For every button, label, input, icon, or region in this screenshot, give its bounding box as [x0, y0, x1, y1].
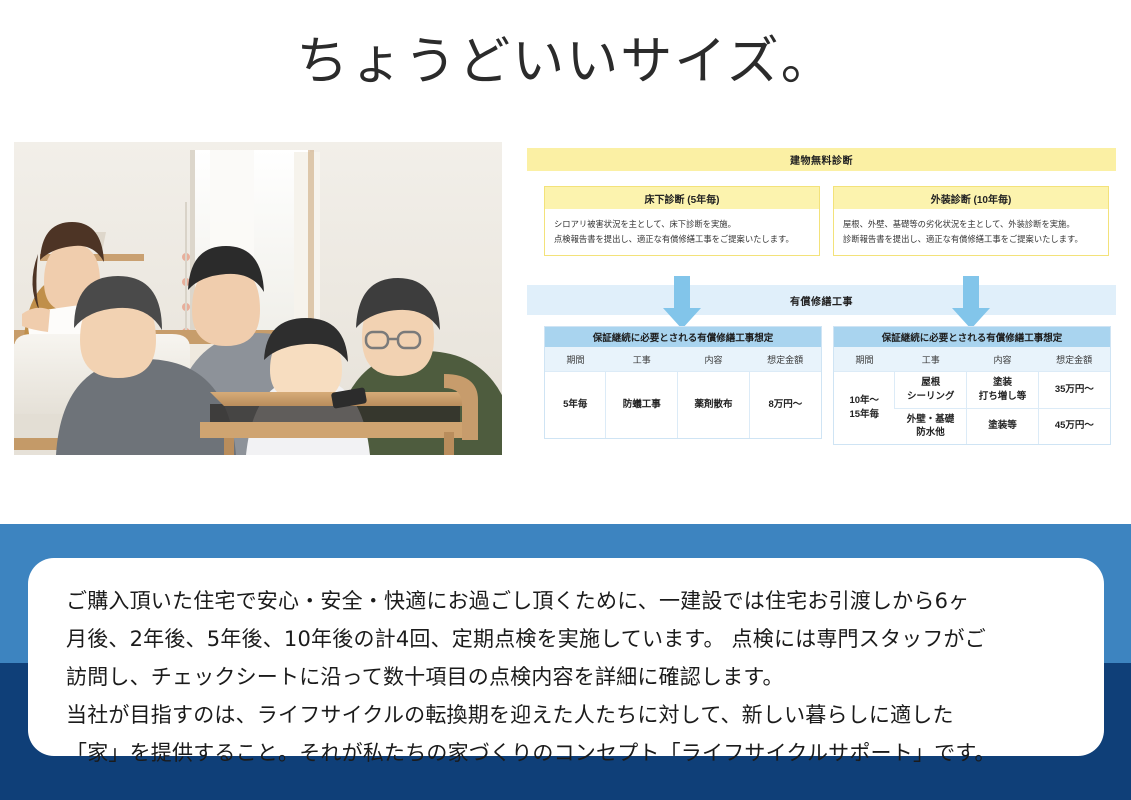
cell-content-line-2: 打ち増し等 [969, 390, 1036, 404]
col-work: 工事 [606, 347, 678, 372]
table-header-row: 期間 工事 内容 想定金額 [834, 347, 1110, 372]
repair-table-underfloor-heading: 保証継続に必要とされる有償修繕工事想定 [545, 327, 821, 347]
exterior-line-2: 診断報告書を提出し、適正な有償修繕工事をご提案いたします。 [843, 232, 1099, 247]
cell-period-line-1: 10年～ [836, 394, 892, 408]
cell-period: 5年毎 [545, 372, 606, 439]
description-text: ご購入頂いた住宅で安心・安全・快適にお過ごし頂くために、一建設では住宅お引渡しか… [66, 582, 1070, 772]
down-arrow-icon-right [948, 276, 994, 329]
col-content: 内容 [967, 347, 1039, 372]
repair-table-underfloor: 保証継続に必要とされる有償修繕工事想定 期間 工事 内容 想定金額 5年毎 防蟻… [544, 326, 822, 439]
inspection-box-exterior-body: 屋根、外壁、基礎等の劣化状況を主として、外装診断を実施。 診断報告書を提出し、適… [834, 209, 1108, 255]
cell-amount: 8万円～ [749, 372, 821, 439]
inspection-box-underfloor: 床下診断 (5年毎) シロアリ被害状況を主として、床下診断を実施。 点検報告書を… [544, 186, 820, 256]
description-line-5: 「家」を提供すること。それが私たちの家づくりのコンセプト「ライフサイクルサポート… [66, 734, 1070, 772]
cell-content-line-1: 塗装 [969, 376, 1036, 390]
col-amount: 想定金額 [1038, 347, 1110, 372]
family-living-room-photo [14, 142, 502, 455]
repair-table-exterior-grid: 期間 工事 内容 想定金額 10年～ 15年毎 屋根 シーリング [834, 347, 1110, 444]
repair-table-underfloor-grid: 期間 工事 内容 想定金額 5年毎 防蟻工事 薬剤散布 8万円～ [545, 347, 821, 438]
cell-amount: 35万円～ [1038, 372, 1110, 409]
inspection-box-exterior: 外装診断 (10年毎) 屋根、外壁、基礎等の劣化状況を主として、外装診断を実施。… [833, 186, 1109, 256]
maintenance-diagram: 建物無料診断 床下診断 (5年毎) シロアリ被害状況を主として、床下診断を実施。… [527, 148, 1116, 460]
cell-content: 塗装 打ち増し等 [967, 372, 1039, 409]
col-content: 内容 [678, 347, 750, 372]
cell-period: 10年～ 15年毎 [834, 372, 895, 445]
cell-work-line-1: 外壁・基礎 [897, 413, 964, 427]
down-arrow-icon-left [659, 276, 705, 329]
diagram-column-exterior: 外装診断 (10年毎) 屋根、外壁、基礎等の劣化状況を主として、外装診断を実施。… [833, 186, 1109, 256]
description-line-3: 訪問し、チェックシートに沿って数十項目の点検内容を詳細に確認します。 [66, 658, 1070, 696]
col-period: 期間 [545, 347, 606, 372]
cell-amount: 45万円～ [1038, 408, 1110, 444]
underfloor-line-1: シロアリ被害状況を主として、床下診断を実施。 [554, 217, 810, 232]
col-work: 工事 [895, 347, 967, 372]
cell-work-line-2: 防水他 [897, 426, 964, 440]
repair-table-exterior-heading: 保証継続に必要とされる有償修繕工事想定 [834, 327, 1110, 347]
cell-work: 屋根 シーリング [895, 372, 967, 409]
description-line-2: 月後、2年後、5年後、10年後の計4回、定期点検を実施しています。 点検には専門… [66, 620, 1070, 658]
cell-period-line-2: 15年毎 [836, 408, 892, 422]
col-amount: 想定金額 [749, 347, 821, 372]
underfloor-line-2: 点検報告書を提出し、適正な有償修繕工事をご提案いたします。 [554, 232, 810, 247]
cell-work: 防蟻工事 [606, 372, 678, 439]
table-header-row: 期間 工事 内容 想定金額 [545, 347, 821, 372]
photo-illustration [14, 142, 502, 455]
cell-work-line-1: 屋根 [897, 376, 964, 390]
cell-content: 塗装等 [967, 408, 1039, 444]
description-line-1: ご購入頂いた住宅で安心・安全・快適にお過ごし頂くために、一建設では住宅お引渡しか… [66, 582, 1070, 620]
cell-work-line-2: シーリング [897, 390, 964, 404]
inspection-box-underfloor-body: シロアリ被害状況を主として、床下診断を実施。 点検報告書を提出し、適正な有償修繕… [545, 209, 819, 255]
diagram-band-paid-repair: 有償修繕工事 [527, 285, 1116, 315]
exterior-line-1: 屋根、外壁、基礎等の劣化状況を主として、外装診断を実施。 [843, 217, 1099, 232]
inspection-box-underfloor-heading: 床下診断 (5年毎) [545, 187, 819, 209]
repair-table-exterior: 保証継続に必要とされる有償修繕工事想定 期間 工事 内容 想定金額 10年～ 1… [833, 326, 1111, 445]
cell-content: 薬剤散布 [678, 372, 750, 439]
col-period: 期間 [834, 347, 895, 372]
description-card: ご購入頂いた住宅で安心・安全・快適にお過ごし頂くために、一建設では住宅お引渡しか… [28, 558, 1104, 756]
cell-work: 外壁・基礎 防水他 [895, 408, 967, 444]
description-line-4: 当社が目指すのは、ライフサイクルの転換期を迎えた人たちに対して、新しい暮らしに適… [66, 696, 1070, 734]
page-title: ちょうどいいサイズ。 [0, 34, 1131, 91]
table-row: 10年～ 15年毎 屋根 シーリング 塗装 打ち増し等 35万円～ [834, 372, 1110, 409]
diagram-banner-free-inspection: 建物無料診断 [527, 148, 1116, 171]
inspection-box-exterior-heading: 外装診断 (10年毎) [834, 187, 1108, 209]
table-row: 5年毎 防蟻工事 薬剤散布 8万円～ [545, 372, 821, 439]
diagram-column-underfloor: 床下診断 (5年毎) シロアリ被害状況を主として、床下診断を実施。 点検報告書を… [544, 186, 820, 256]
